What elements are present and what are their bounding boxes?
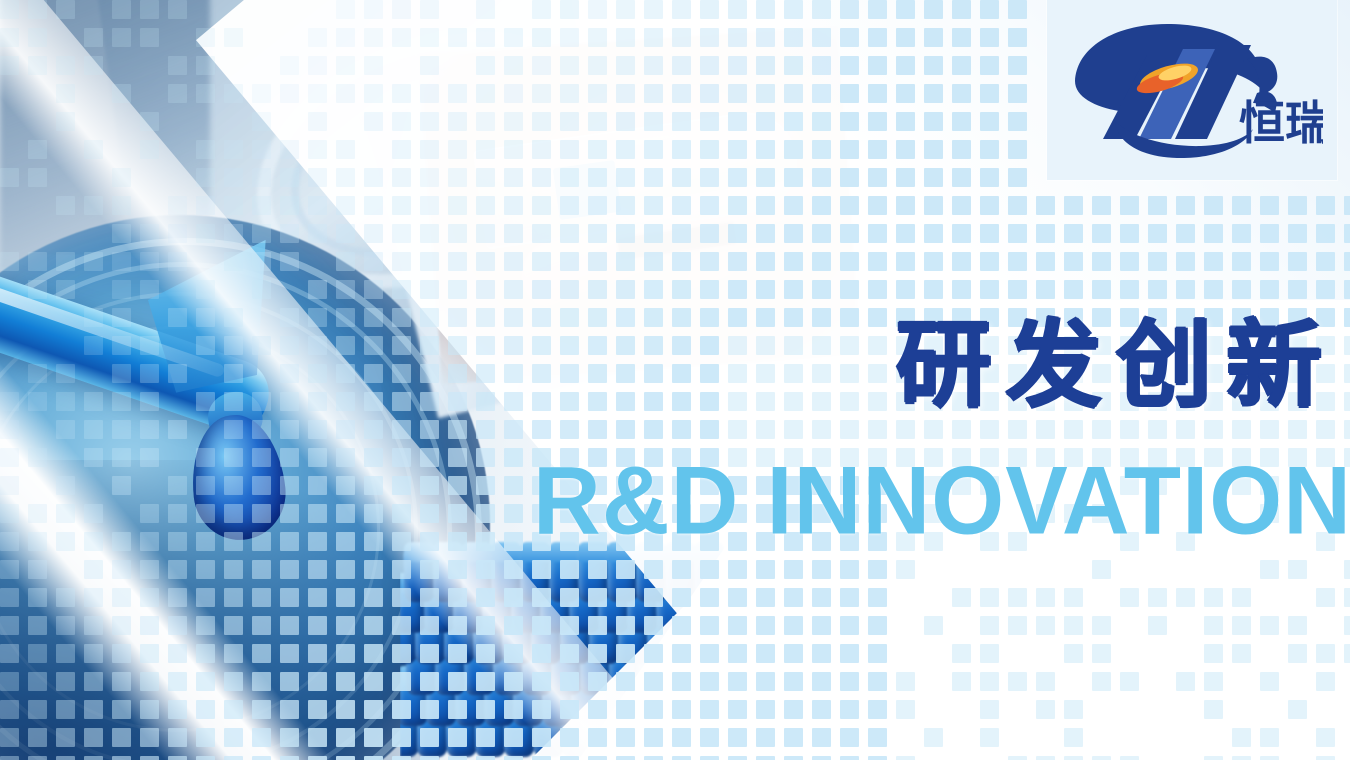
hengrui-logo-svg: 恒瑞 xyxy=(1061,15,1323,165)
hengrui-logo: 恒瑞 xyxy=(1061,15,1323,165)
capsule-cap xyxy=(549,542,579,562)
logo-wordmark: 恒瑞 xyxy=(1239,96,1323,150)
logo-panel: 恒瑞 xyxy=(1047,0,1337,180)
capsule-cap xyxy=(520,542,550,562)
capsule-cap xyxy=(578,542,608,562)
rd-innovation-banner: 恒瑞 研发创新 R&D INNOVATION xyxy=(0,0,1350,760)
